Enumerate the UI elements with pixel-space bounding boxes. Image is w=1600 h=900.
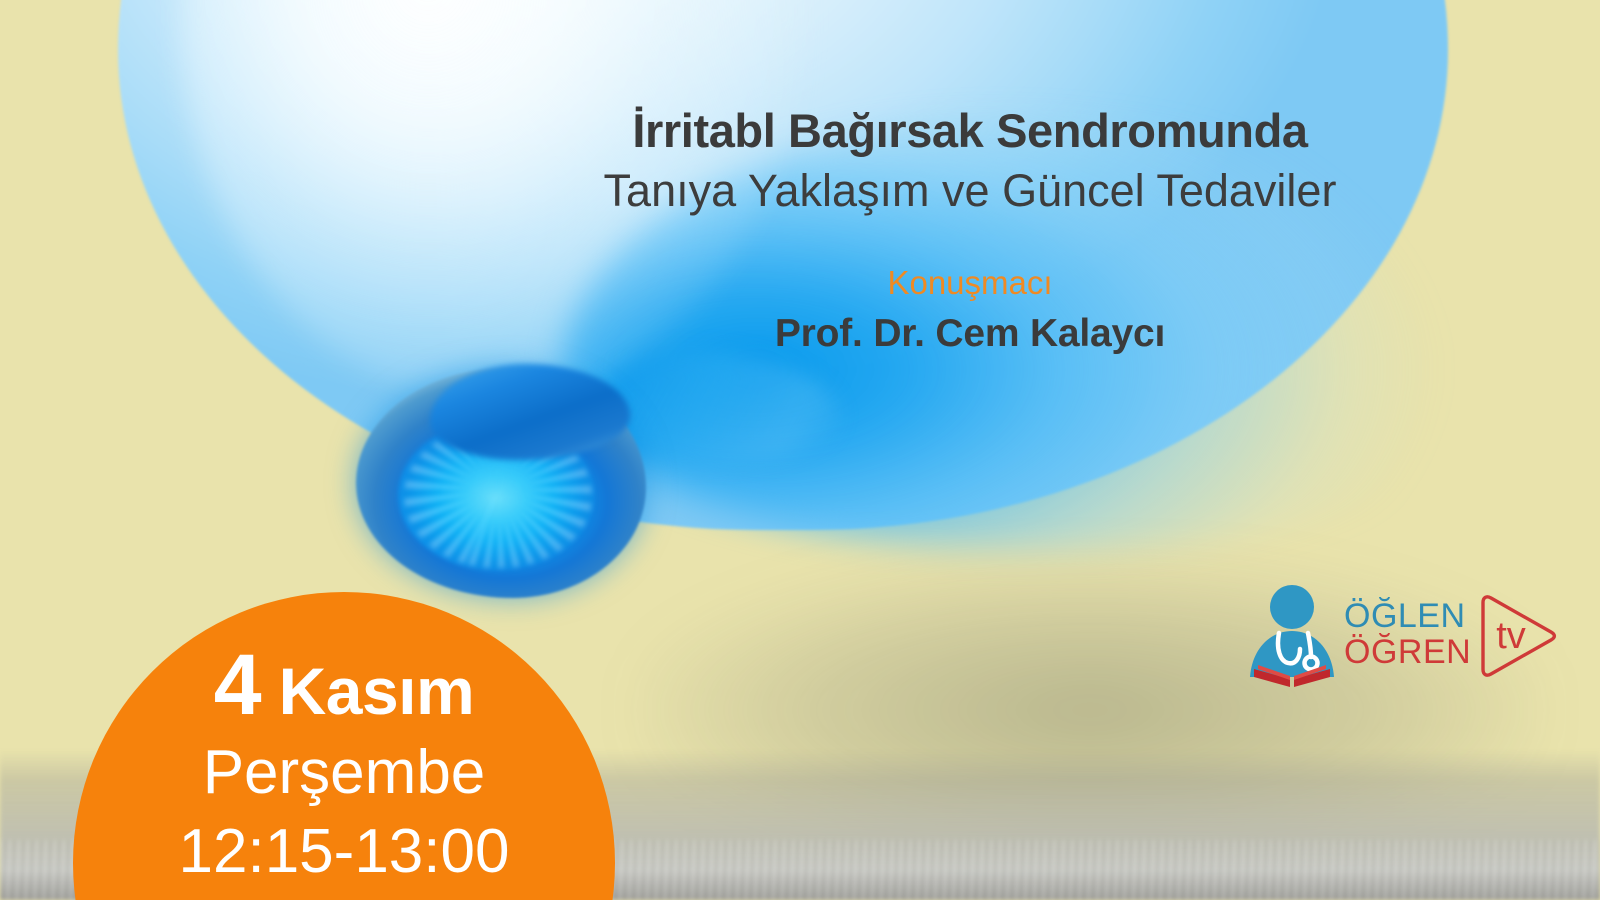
date-day: 4 [214, 642, 261, 728]
date-day-line: 4 Kasım [214, 642, 474, 728]
doctor-with-book-icon [1244, 579, 1340, 689]
tv-label: tv [1496, 615, 1526, 657]
date-weekday: Perşembe [203, 738, 486, 807]
logo-wordmark: ÖĞLEN ÖĞREN [1344, 599, 1471, 669]
brand-logo[interactable]: ÖĞLEN ÖĞREN tv [1244, 578, 1534, 690]
tv-play-badge-icon[interactable]: tv [1477, 588, 1561, 680]
date-time-range: 12:15-13:00 [179, 817, 510, 886]
page-subtitle: Tanıya Yaklaşım ve Güncel Tedaviler [500, 164, 1440, 217]
speaker-label: Konuşmacı [500, 263, 1440, 303]
page-title: İrritabl Bağırsak Sendromunda [500, 105, 1440, 158]
date-month: Kasım [279, 658, 475, 724]
logo-word-ogren: ÖĞREN [1344, 635, 1471, 669]
headline-block: İrritabl Bağırsak Sendromunda Tanıya Yak… [500, 105, 1440, 359]
logo-word-oglen: ÖĞLEN [1344, 599, 1471, 633]
webinar-poster: İrritabl Bağırsak Sendromunda Tanıya Yak… [0, 0, 1600, 900]
speaker-name: Prof. Dr. Cem Kalaycı [500, 310, 1440, 359]
speaker-block: Konuşmacı Prof. Dr. Cem Kalaycı [500, 263, 1440, 359]
